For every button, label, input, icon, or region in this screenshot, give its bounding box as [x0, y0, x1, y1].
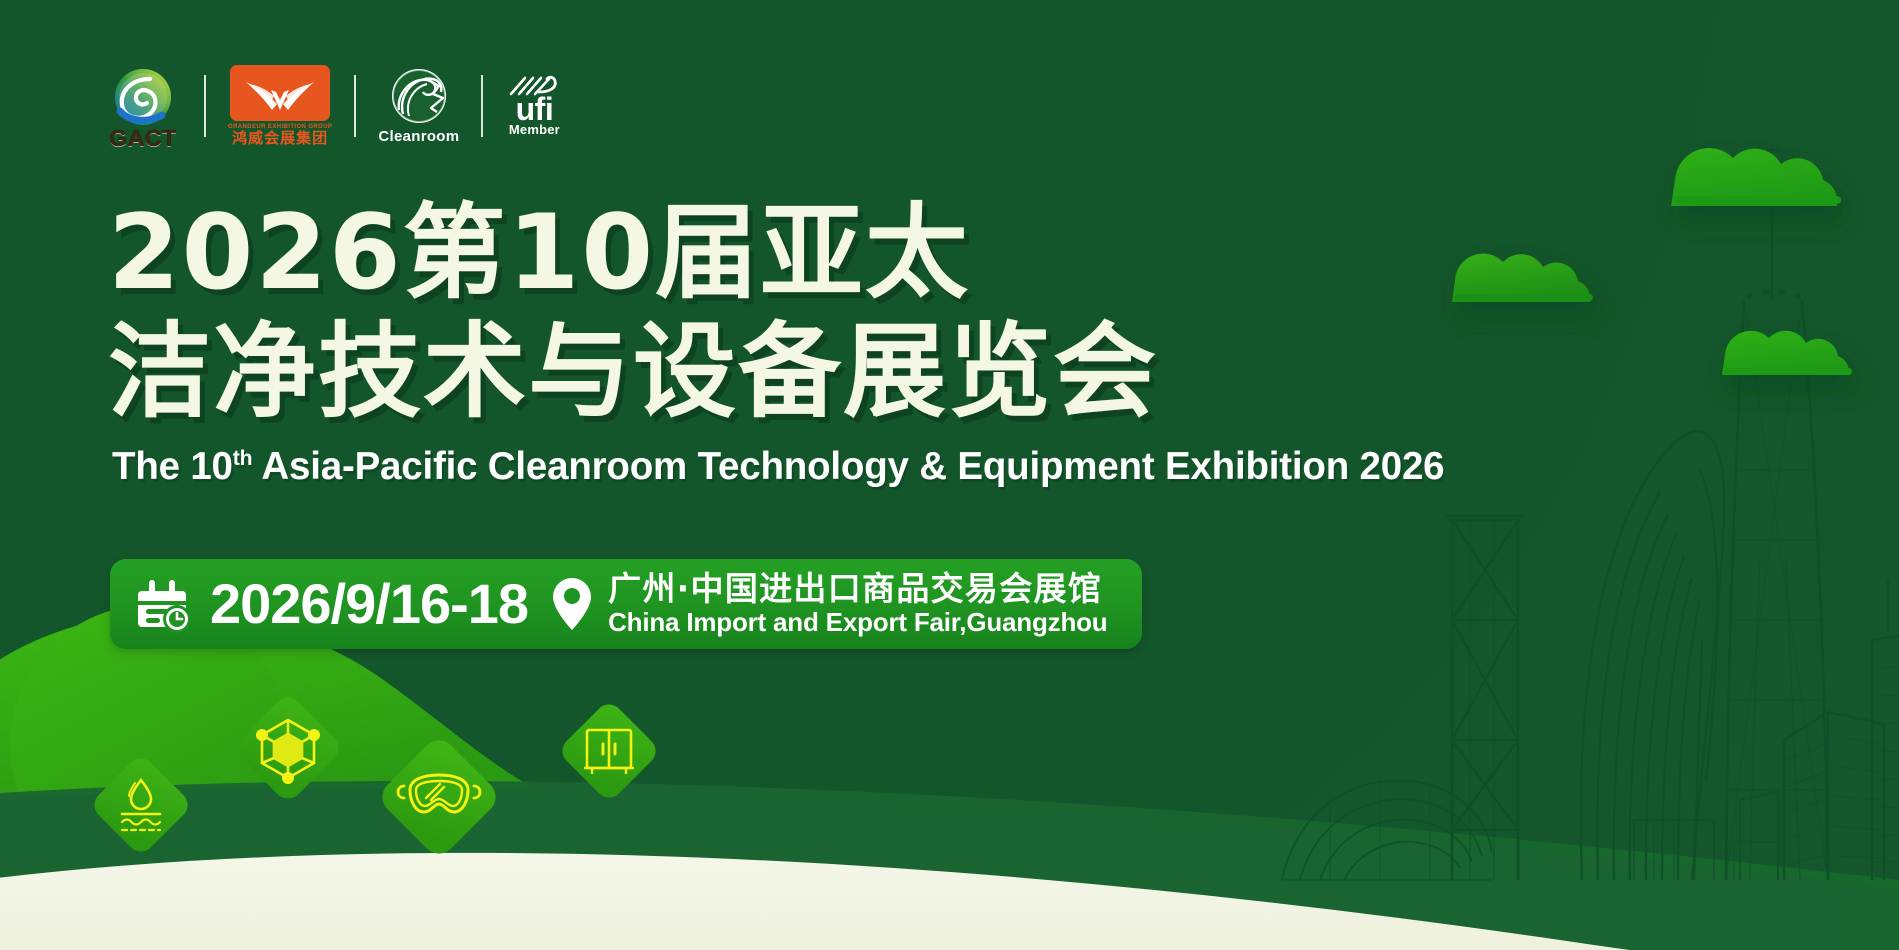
ufi-wordmark: ufi	[516, 96, 554, 122]
canton-tower	[1726, 150, 1830, 880]
cloud-2	[1452, 254, 1593, 302]
location-pin-icon	[550, 575, 594, 633]
ufi-member-label: Member	[509, 122, 560, 138]
calendar-clock-icon	[136, 575, 194, 633]
logo-strip: GACT GRANDEUR EXHIBITION GR	[104, 62, 563, 150]
logo-cleanroom[interactable]: Cleanroom	[378, 62, 459, 150]
right-buildings	[1740, 712, 1884, 880]
event-date: 2026/9/16-18	[210, 576, 528, 632]
venue-group: 广州·中国进出口商品交易会展馆 China Import and Export …	[550, 572, 1107, 636]
headline-block: 2026第10届亚太 洁净技术与设备展览会 The 10th Asia-Paci…	[108, 196, 1444, 489]
cloud-3	[1722, 331, 1852, 375]
diamond-safety-goggles[interactable]	[370, 728, 508, 871]
subtitle-ordinal: th	[233, 447, 253, 470]
headline-line-2: 洁净技术与设备展览会	[108, 315, 1444, 430]
logo-ufi[interactable]: ufi Member	[505, 62, 563, 150]
water-filtration-icon	[86, 750, 196, 860]
bottom-wave	[0, 853, 1899, 950]
sail-building	[1581, 431, 1725, 880]
cube-molecule-icon	[228, 688, 348, 808]
subtitle-pre: The 10	[112, 445, 233, 488]
safety-goggles-icon	[370, 728, 508, 866]
clean-cabinet-icon	[554, 696, 664, 806]
event-info-pill: 2026/9/16-18 广州·中国进出口商品交易会展馆 China Impor…	[110, 559, 1142, 649]
gact-wordmark: GACT	[109, 127, 176, 150]
headline-subtitle-english: The 10th Asia-Pacific Cleanroom Technolo…	[112, 445, 1444, 489]
date-group: 2026/9/16-18	[136, 575, 528, 633]
low-buildings	[1634, 820, 1790, 880]
exhibition-banner: GACT GRANDEUR EXHIBITION GR	[0, 0, 1899, 950]
subtitle-post: Asia-Pacific Cleanroom Technology & Equi…	[252, 445, 1444, 488]
diamond-cube-molecule[interactable]	[228, 688, 348, 813]
logo-grandeur[interactable]: GRANDEUR EXHIBITION GROUP 鸿威会展集团	[228, 62, 332, 150]
lattice-tower	[1446, 516, 1524, 880]
logo-gact[interactable]: GACT	[104, 62, 182, 150]
logo-divider-2	[354, 75, 356, 137]
diamond-water-filtration[interactable]	[86, 750, 196, 865]
headline-line-1: 2026第10届亚太	[108, 196, 1444, 311]
venue-name-chinese: 广州·中国进出口商品交易会展馆	[608, 572, 1107, 606]
cloud-1	[1671, 148, 1841, 206]
venue-name-english: China Import and Export Fair,Guangzhou	[608, 609, 1107, 636]
cleanroom-wordmark: Cleanroom	[378, 129, 459, 144]
wings-w-icon	[241, 70, 319, 116]
twin-towers	[1872, 580, 1899, 880]
logo-divider-3	[481, 75, 483, 137]
gact-mark-icon	[104, 67, 182, 131]
cleanroom-mark-icon	[385, 68, 453, 128]
logo-divider-1	[204, 75, 206, 137]
grandeur-badge	[230, 65, 330, 121]
grandeur-chinese: 鸿威会展集团	[232, 130, 328, 147]
cloud-group	[1452, 148, 1852, 375]
diamond-clean-cabinet[interactable]	[554, 696, 664, 811]
arch-structure	[1282, 776, 1492, 880]
